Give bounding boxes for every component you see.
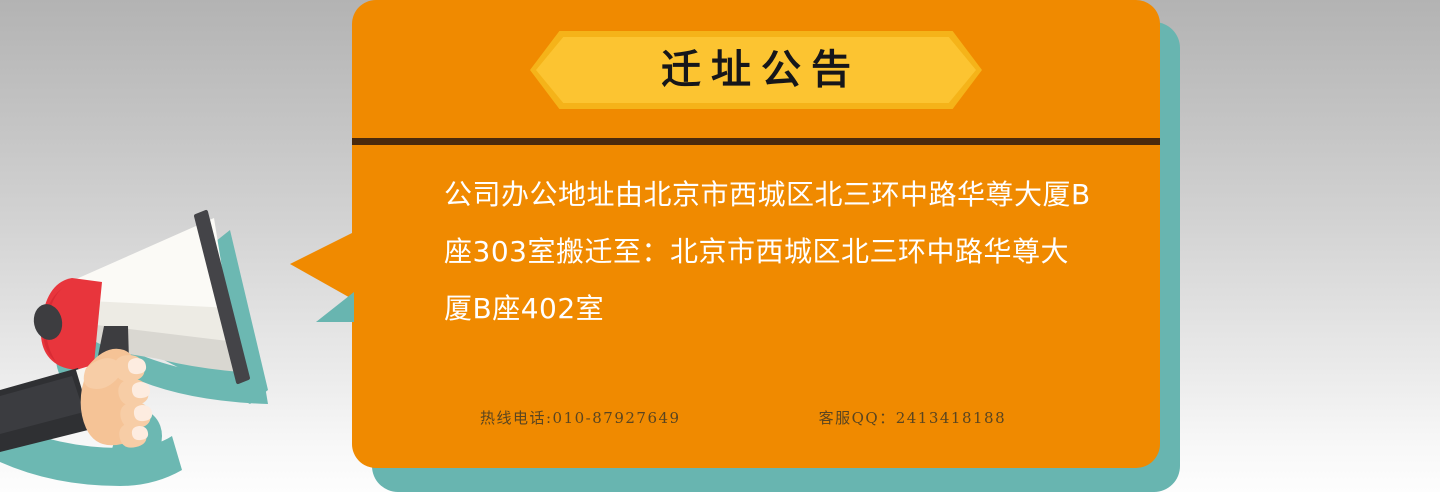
contact-row: 热线电话:010-87927649 客服QQ：2413418188: [352, 400, 1160, 434]
speech-bubble-tail-shadow: [316, 292, 354, 322]
page-title: 迁址公告: [651, 50, 861, 90]
announcement-banner-image: 迁址公告 公司办公地址由北京市西城区北三环中路华尊大厦B座303室搬迁至：北京市…: [0, 0, 1440, 492]
announcement-card: 迁址公告 公司办公地址由北京市西城区北三环中路华尊大厦B座303室搬迁至：北京市…: [352, 0, 1160, 468]
title-banner: 迁址公告: [352, 30, 1160, 110]
announcement-body-text: 公司办公地址由北京市西城区北三环中路华尊大厦B座303室搬迁至：北京市西城区北三…: [444, 166, 1092, 337]
qq-text: 客服QQ：2413418188: [819, 407, 1007, 428]
title-divider: [352, 138, 1160, 145]
hotline-text: 热线电话:010-87927649: [480, 407, 681, 428]
banner-outer-shape: 迁址公告: [530, 31, 982, 109]
megaphone-icon: [0, 190, 300, 492]
